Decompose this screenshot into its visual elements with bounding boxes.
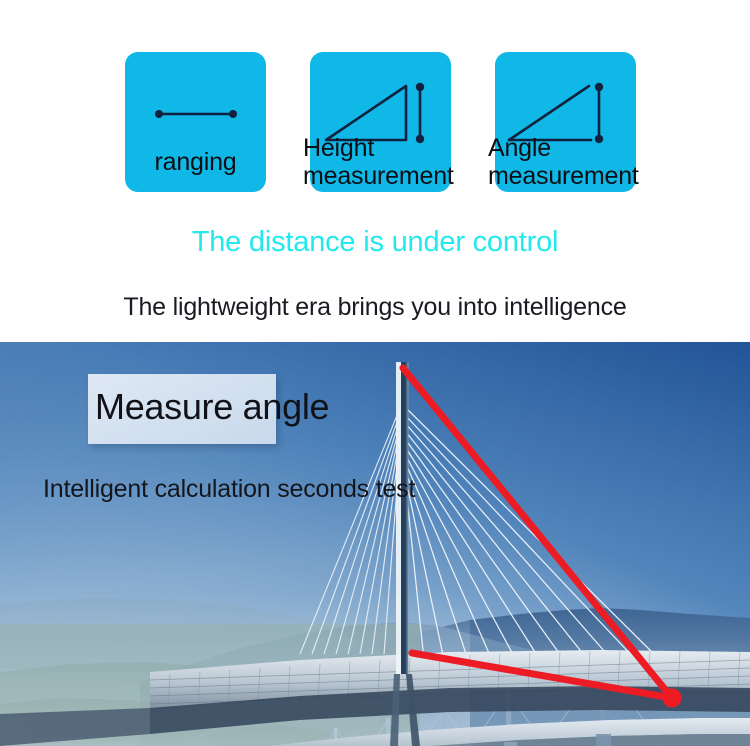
feature-tile-height-measurement[interactable]: Height measurement	[310, 52, 451, 192]
feature-tile-label: ranging	[125, 148, 266, 176]
measure-subtitle: Intelligent calculation seconds test	[43, 473, 415, 505]
feature-panel: ranging Height measurement	[0, 0, 750, 342]
feature-tiles-row: ranging Height measurement	[0, 52, 750, 197]
feature-tile-label: Angle measurement	[488, 134, 639, 190]
feature-tile-label-line2: measurement	[488, 162, 639, 190]
feature-tile-angle-measurement[interactable]: Angle measurement	[495, 52, 636, 192]
feature-tile-label-line1: Height	[303, 134, 454, 162]
ranging-line-icon	[125, 58, 266, 156]
feature-tile-ranging[interactable]: ranging	[125, 52, 266, 192]
headline-secondary: The lightweight era brings you into inte…	[0, 292, 750, 322]
feature-tile-label-line1: Angle	[488, 134, 639, 162]
feature-tile-label-line2: measurement	[303, 162, 454, 190]
promo-banner: ranging Height measurement	[0, 0, 750, 746]
headline-primary: The distance is under control	[0, 225, 750, 259]
measure-title: Measure angle	[95, 380, 329, 434]
feature-tile-label: Height measurement	[303, 134, 454, 190]
